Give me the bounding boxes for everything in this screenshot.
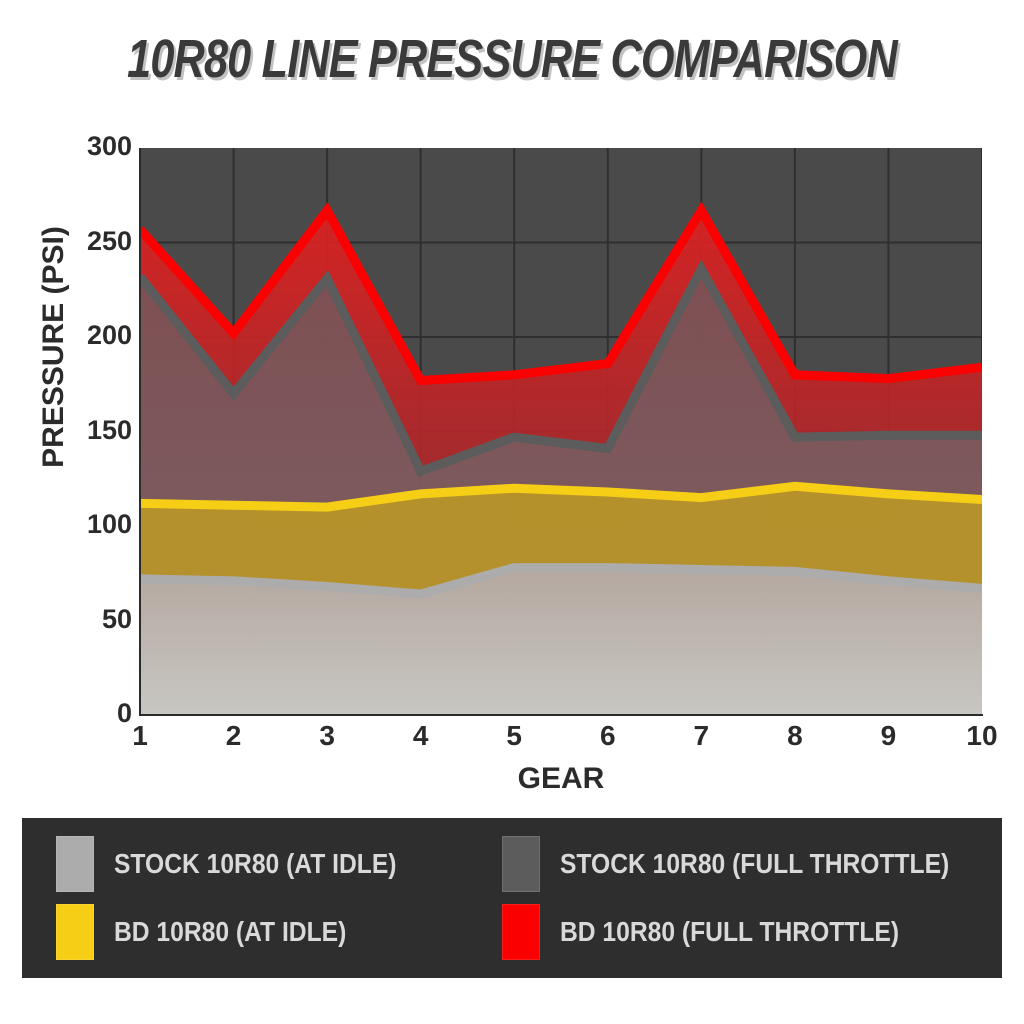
legend-swatch-icon <box>502 836 540 892</box>
legend-item-label: BD 10R80 (AT IDLE) <box>114 916 346 948</box>
legend-swatch-icon <box>502 904 540 960</box>
y-tick-250: 250 <box>68 226 132 257</box>
x-tick-9: 9 <box>858 720 918 752</box>
x-tick-3: 3 <box>297 720 357 752</box>
x-tick-2: 2 <box>204 720 264 752</box>
legend-item[interactable]: BD 10R80 (AT IDLE) <box>22 904 492 960</box>
legend-swatch-icon <box>56 904 94 960</box>
y-tick-50: 50 <box>68 604 132 635</box>
x-tick-5: 5 <box>484 720 544 752</box>
legend-item[interactable]: STOCK 10R80 (AT IDLE) <box>22 836 492 892</box>
x-tick-10: 10 <box>952 720 1012 752</box>
x-tick-8: 8 <box>765 720 825 752</box>
x-axis-label: GEAR <box>140 762 982 796</box>
y-tick-150: 150 <box>68 415 132 446</box>
x-axis-line <box>140 714 983 716</box>
x-tick-4: 4 <box>391 720 451 752</box>
x-tick-1: 1 <box>110 720 170 752</box>
y-tick-300: 300 <box>68 131 132 162</box>
series-stock-idle <box>140 568 982 715</box>
legend-item-label: STOCK 10R80 (AT IDLE) <box>114 848 396 880</box>
chart-legend: STOCK 10R80 (AT IDLE)STOCK 10R80 (FULL T… <box>22 818 1002 978</box>
y-tick-100: 100 <box>68 509 132 540</box>
plot-canvas <box>140 148 982 715</box>
y-axis-line <box>139 148 141 716</box>
legend-item[interactable]: STOCK 10R80 (FULL THROTTLE) <box>492 836 1002 892</box>
legend-item[interactable]: BD 10R80 (FULL THROTTLE) <box>492 904 1002 960</box>
legend-swatch-icon <box>56 836 94 892</box>
chart-page: 10R80 LINE PRESSURE COMPARISON PRESSURE … <box>0 0 1024 1024</box>
x-tick-7: 7 <box>671 720 731 752</box>
y-axis-ticks: 050100150200250300 <box>56 0 132 812</box>
chart-area: PRESSURE (PSI) 050100150200250300 123456… <box>0 0 1024 812</box>
legend-item-label: STOCK 10R80 (FULL THROTTLE) <box>560 848 949 880</box>
y-tick-200: 200 <box>68 320 132 351</box>
x-tick-6: 6 <box>578 720 638 752</box>
plot-svg <box>140 148 982 715</box>
legend-item-label: BD 10R80 (FULL THROTTLE) <box>560 916 899 948</box>
